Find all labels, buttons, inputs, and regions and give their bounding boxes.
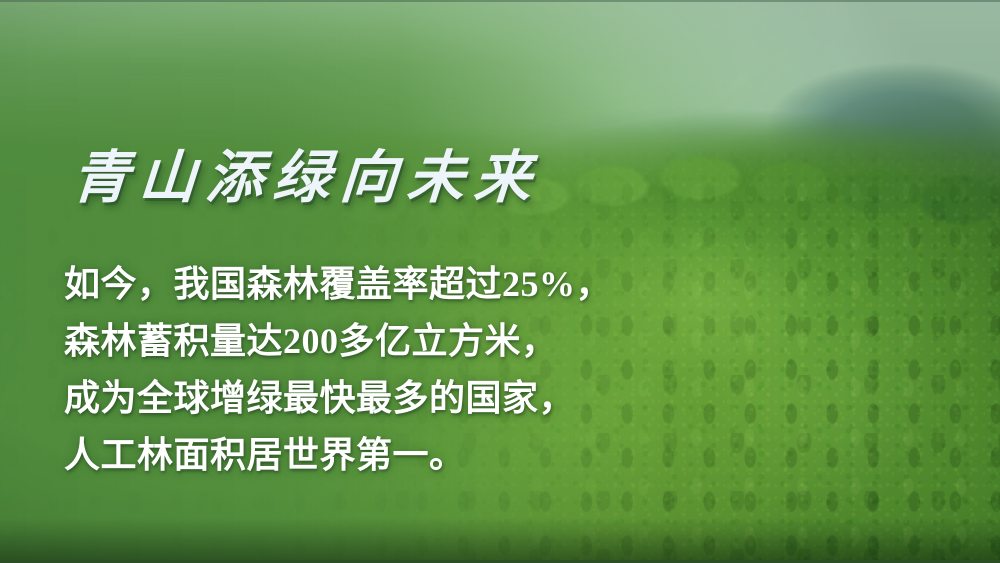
body-line-2: 森林蓄积量达200多亿立方米， xyxy=(64,313,624,370)
page-title: 青山添绿向未来 xyxy=(70,148,543,210)
top-edge-rule xyxy=(0,0,1000,2)
body-line-3: 成为全球增绿最快最多的国家， xyxy=(64,370,624,427)
body-line-1: 如今，我国森林覆盖率超过25%， xyxy=(64,256,624,313)
body-line-4: 人工林面积居世界第一。 xyxy=(64,427,624,484)
body-copy-block: 如今，我国森林覆盖率超过25%， 森林蓄积量达200多亿立方米， 成为全球增绿最… xyxy=(64,256,624,484)
slide-canvas: 青山添绿向未来 如今，我国森林覆盖率超过25%， 森林蓄积量达200多亿立方米，… xyxy=(0,0,1000,563)
